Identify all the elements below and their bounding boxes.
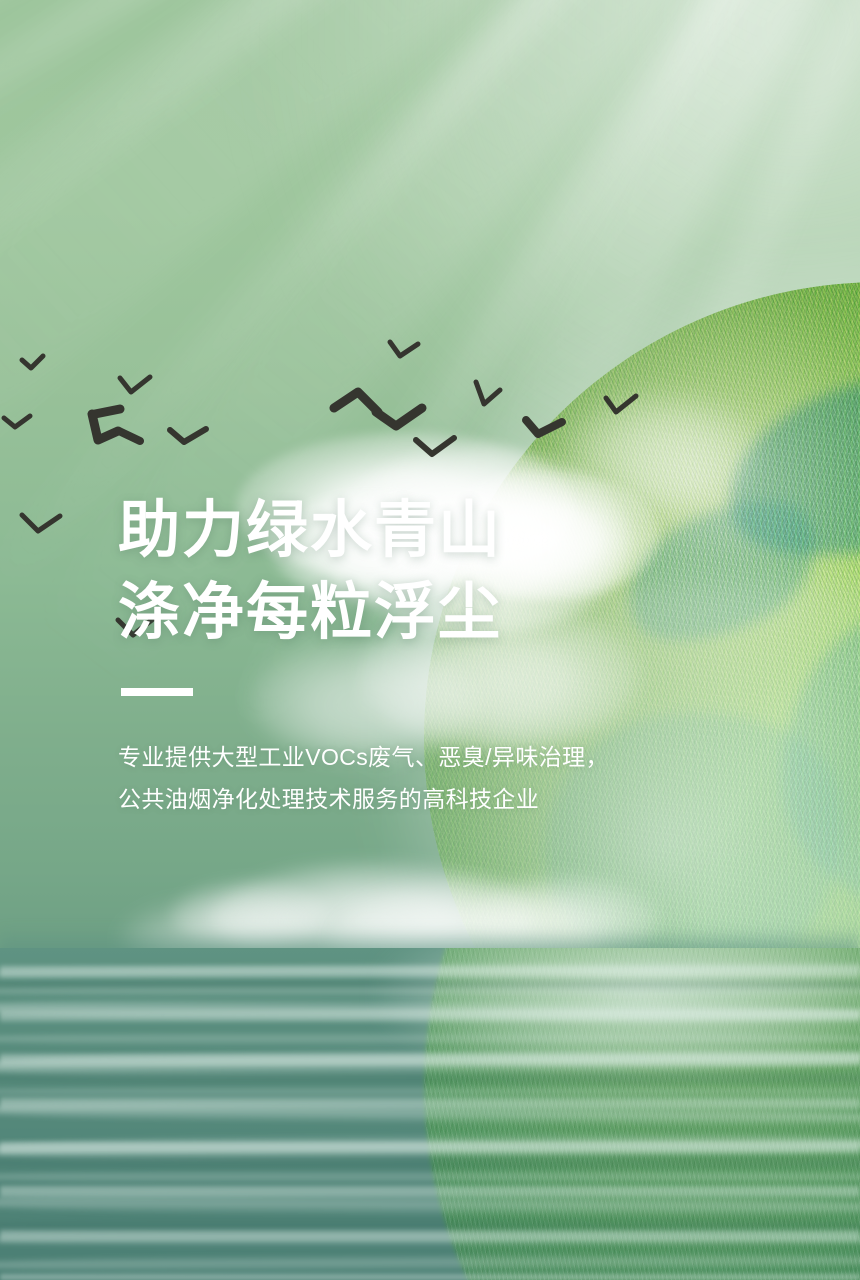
- subtitle-line-1: 专业提供大型工业VOCs废气、恶臭/异味治理，: [118, 738, 678, 776]
- birds-flock-secondary: [330, 330, 670, 460]
- water-wave: [0, 1170, 860, 1184]
- water-surface: [0, 948, 860, 1280]
- water-wave: [0, 1068, 860, 1088]
- headline-line-2: 涤净每粒浮尘: [118, 572, 678, 654]
- promo-banner: 助力绿水青山 涤净每粒浮尘 专业提供大型工业VOCs废气、恶臭/异味治理， 公共…: [0, 0, 860, 1280]
- water-wave: [0, 1086, 860, 1098]
- banner-content: 助力绿水青山 涤净每粒浮尘 专业提供大型工业VOCs废气、恶臭/异味治理， 公共…: [118, 490, 678, 818]
- title-divider: [121, 688, 193, 696]
- water-wave: [0, 1032, 860, 1046]
- headline-line-1: 助力绿水青山: [118, 490, 678, 572]
- water-wave: [0, 986, 860, 996]
- subtitle-line-2: 公共油烟净化处理技术服务的高科技企业: [118, 780, 678, 818]
- water-wave: [0, 1232, 860, 1248]
